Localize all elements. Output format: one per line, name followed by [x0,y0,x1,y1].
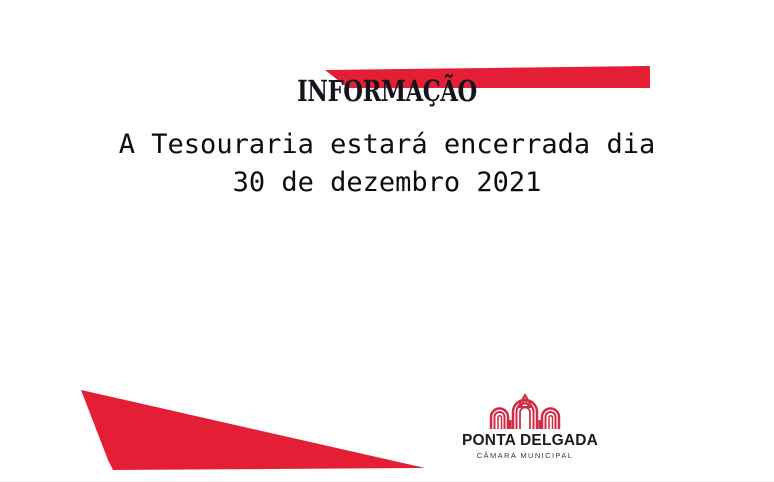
logo-subtitle: CÂMARA MUNICIPAL [462,451,588,460]
message-line-2: 30 de dezembro 2021 [0,164,774,202]
page-title: INFORMAÇÃO [85,74,689,108]
information-poster: INFORMAÇÃO A Tesouraria estará encerrada… [0,0,774,482]
message-line-1: A Tesouraria estará encerrada dia [0,126,774,164]
ponta-delgada-arches-icon [487,392,563,430]
bottom-red-wedge [0,372,774,482]
logo-name: PONTA DELGADA [462,432,588,450]
announcement-message: A Tesouraria estará encerrada dia 30 de … [0,126,774,202]
municipality-logo: PONTA DELGADA CÂMARA MUNICIPAL [462,392,588,460]
